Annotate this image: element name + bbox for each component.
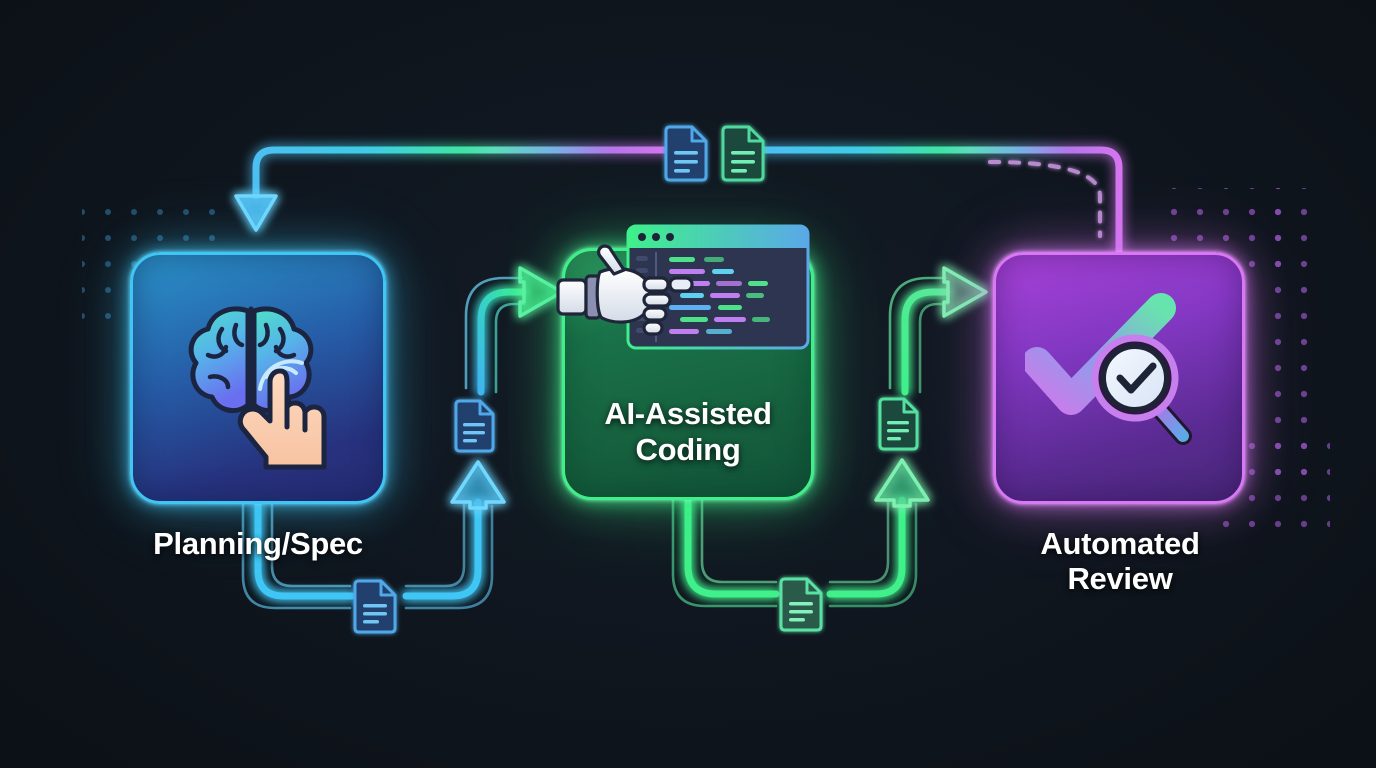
node-planning-label: Planning/Spec bbox=[128, 527, 388, 562]
document-icon-top-green bbox=[723, 127, 763, 180]
node-review-label: Automated Review bbox=[1000, 527, 1240, 596]
document-icon-top-blue bbox=[666, 127, 706, 180]
connector-planning-to-coding bbox=[452, 268, 562, 400]
document-icon-planning-coding bbox=[456, 401, 493, 451]
diagram-canvas: Planning/Spec bbox=[0, 0, 1376, 768]
document-icon-bottom-blue bbox=[355, 581, 395, 632]
node-coding-label: AI-Assisted Coding bbox=[562, 396, 814, 467]
checkmark-magnifier-icon bbox=[1025, 290, 1215, 465]
document-icon-bottom-green bbox=[781, 579, 821, 630]
brain-touch-icon bbox=[162, 285, 352, 475]
robot-hand-code-icon bbox=[556, 222, 826, 372]
document-icon-coding-review bbox=[880, 399, 917, 449]
connector-coding-to-review bbox=[876, 268, 986, 400]
